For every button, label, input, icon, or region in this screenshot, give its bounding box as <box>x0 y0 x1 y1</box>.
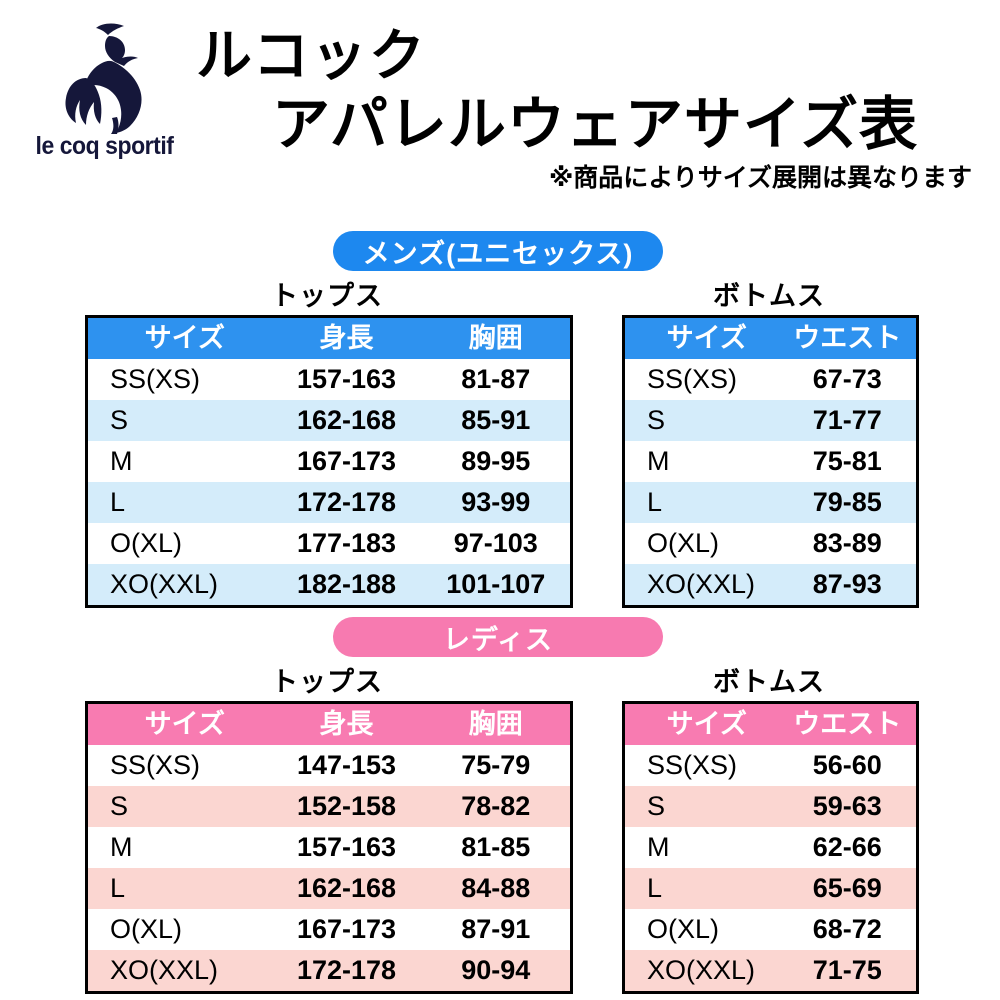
cell-size: SS(XS) <box>624 745 779 786</box>
cell-size: M <box>624 827 779 868</box>
table-row: L 172-178 93-99 <box>87 482 572 523</box>
column-header-height: 身長 <box>272 317 422 360</box>
cell-size: SS(XS) <box>87 359 272 400</box>
table-row: XO(XXL) 172-178 90-94 <box>87 950 572 993</box>
cell-size: L <box>624 482 779 523</box>
cell-waist: 62-66 <box>779 827 918 868</box>
cell-waist: 71-75 <box>779 950 918 993</box>
cell-chest: 93-99 <box>422 482 572 523</box>
section-badge-mens: メンズ(ユニセックス) <box>333 231 663 271</box>
cell-height: 172-178 <box>272 482 422 523</box>
table-label-mens-tops: トップス <box>85 283 569 310</box>
column-header-waist: ウエスト <box>779 703 918 746</box>
cell-waist: 75-81 <box>779 441 918 482</box>
table-row: M 75-81 <box>624 441 918 482</box>
table-row: M 167-173 89-95 <box>87 441 572 482</box>
brand-logo: le coq sportif <box>22 22 187 172</box>
cell-size: M <box>87 441 272 482</box>
cell-height: 157-163 <box>272 827 422 868</box>
cell-chest: 87-91 <box>422 909 572 950</box>
cell-waist: 79-85 <box>779 482 918 523</box>
table-row: XO(XXL) 71-75 <box>624 950 918 993</box>
cell-size: O(XL) <box>624 523 779 564</box>
cell-height: 177-183 <box>272 523 422 564</box>
cell-waist: 65-69 <box>779 868 918 909</box>
cell-size: M <box>624 441 779 482</box>
cell-size: S <box>624 786 779 827</box>
cell-waist: 71-77 <box>779 400 918 441</box>
cell-size: L <box>87 482 272 523</box>
cell-height: 167-173 <box>272 909 422 950</box>
cell-chest: 90-94 <box>422 950 572 993</box>
cell-size: S <box>624 400 779 441</box>
cell-waist: 59-63 <box>779 786 918 827</box>
cell-waist: 68-72 <box>779 909 918 950</box>
cell-size: O(XL) <box>87 523 272 564</box>
size-disclaimer-note: ※商品によりサイズ展開は異なります <box>549 166 972 191</box>
table-row: XO(XXL) 182-188 101-107 <box>87 564 572 607</box>
table-ladies-bottoms: サイズ ウエスト SS(XS) 56-60 S 59-63 M 62-66 L … <box>622 701 919 994</box>
table-mens-bottoms: サイズ ウエスト SS(XS) 67-73 S 71-77 M 75-81 L … <box>622 315 919 608</box>
table-header-row: サイズ 身長 胸囲 <box>87 317 572 360</box>
cell-waist: 83-89 <box>779 523 918 564</box>
cell-chest: 75-79 <box>422 745 572 786</box>
table-ladies-tops: サイズ 身長 胸囲 SS(XS) 147-153 75-79 S 152-158… <box>85 701 573 994</box>
column-header-size: サイズ <box>87 317 272 360</box>
cell-size: XO(XXL) <box>87 950 272 993</box>
table-row: O(XL) 167-173 87-91 <box>87 909 572 950</box>
table-row: S 152-158 78-82 <box>87 786 572 827</box>
table-header-row: サイズ 身長 胸囲 <box>87 703 572 746</box>
cell-height: 167-173 <box>272 441 422 482</box>
column-header-size: サイズ <box>624 317 779 360</box>
cell-size: S <box>87 786 272 827</box>
cell-height: 162-168 <box>272 400 422 441</box>
cell-waist: 87-93 <box>779 564 918 607</box>
column-header-chest: 胸囲 <box>422 317 572 360</box>
table-row: L 162-168 84-88 <box>87 868 572 909</box>
table-mens-tops: サイズ 身長 胸囲 SS(XS) 157-163 81-87 S 162-168… <box>85 315 573 608</box>
table-label-ladies-tops: トップス <box>85 669 569 696</box>
page-title-line2: アパレルウェアサイズ表 <box>272 96 918 154</box>
column-header-waist: ウエスト <box>779 317 918 360</box>
table-row: S 59-63 <box>624 786 918 827</box>
cell-height: 157-163 <box>272 359 422 400</box>
table-header-row: サイズ ウエスト <box>624 317 918 360</box>
cell-height: 162-168 <box>272 868 422 909</box>
cell-height: 152-158 <box>272 786 422 827</box>
cell-size: O(XL) <box>624 909 779 950</box>
column-header-chest: 胸囲 <box>422 703 572 746</box>
cell-size: O(XL) <box>87 909 272 950</box>
page-title-line1: ルコック <box>196 28 427 84</box>
cell-chest: 84-88 <box>422 868 572 909</box>
table-row: O(XL) 83-89 <box>624 523 918 564</box>
cell-size: L <box>624 868 779 909</box>
table-row: S 71-77 <box>624 400 918 441</box>
table-row: XO(XXL) 87-93 <box>624 564 918 607</box>
cell-size: SS(XS) <box>624 359 779 400</box>
le-coq-sportif-rooster-icon <box>52 22 162 134</box>
table-row: M 62-66 <box>624 827 918 868</box>
table-row: M 157-163 81-85 <box>87 827 572 868</box>
cell-size: M <box>87 827 272 868</box>
section-badge-ladies: レディス <box>333 617 663 657</box>
table-row: SS(XS) 56-60 <box>624 745 918 786</box>
table-row: SS(XS) 67-73 <box>624 359 918 400</box>
cell-chest: 78-82 <box>422 786 572 827</box>
cell-waist: 56-60 <box>779 745 918 786</box>
cell-size: XO(XXL) <box>87 564 272 607</box>
table-row: L 65-69 <box>624 868 918 909</box>
table-label-ladies-bottoms: ボトムス <box>622 669 916 696</box>
cell-height: 147-153 <box>272 745 422 786</box>
table-label-mens-bottoms: ボトムス <box>622 283 916 310</box>
table-header-row: サイズ ウエスト <box>624 703 918 746</box>
table-row: SS(XS) 147-153 75-79 <box>87 745 572 786</box>
cell-chest: 81-87 <box>422 359 572 400</box>
cell-chest: 89-95 <box>422 441 572 482</box>
cell-waist: 67-73 <box>779 359 918 400</box>
cell-size: XO(XXL) <box>624 950 779 993</box>
column-header-size: サイズ <box>624 703 779 746</box>
cell-chest: 101-107 <box>422 564 572 607</box>
table-row: O(XL) 177-183 97-103 <box>87 523 572 564</box>
cell-size: XO(XXL) <box>624 564 779 607</box>
table-row: SS(XS) 157-163 81-87 <box>87 359 572 400</box>
cell-size: S <box>87 400 272 441</box>
column-header-height: 身長 <box>272 703 422 746</box>
brand-wordmark: le coq sportif <box>29 132 181 161</box>
table-row: S 162-168 85-91 <box>87 400 572 441</box>
cell-size: SS(XS) <box>87 745 272 786</box>
cell-chest: 81-85 <box>422 827 572 868</box>
table-row: O(XL) 68-72 <box>624 909 918 950</box>
page-header: le coq sportif ルコック アパレルウェアサイズ表 ※商品によりサイ… <box>0 0 1000 210</box>
cell-chest: 85-91 <box>422 400 572 441</box>
cell-height: 172-178 <box>272 950 422 993</box>
table-row: L 79-85 <box>624 482 918 523</box>
cell-chest: 97-103 <box>422 523 572 564</box>
column-header-size: サイズ <box>87 703 272 746</box>
cell-size: L <box>87 868 272 909</box>
cell-height: 182-188 <box>272 564 422 607</box>
